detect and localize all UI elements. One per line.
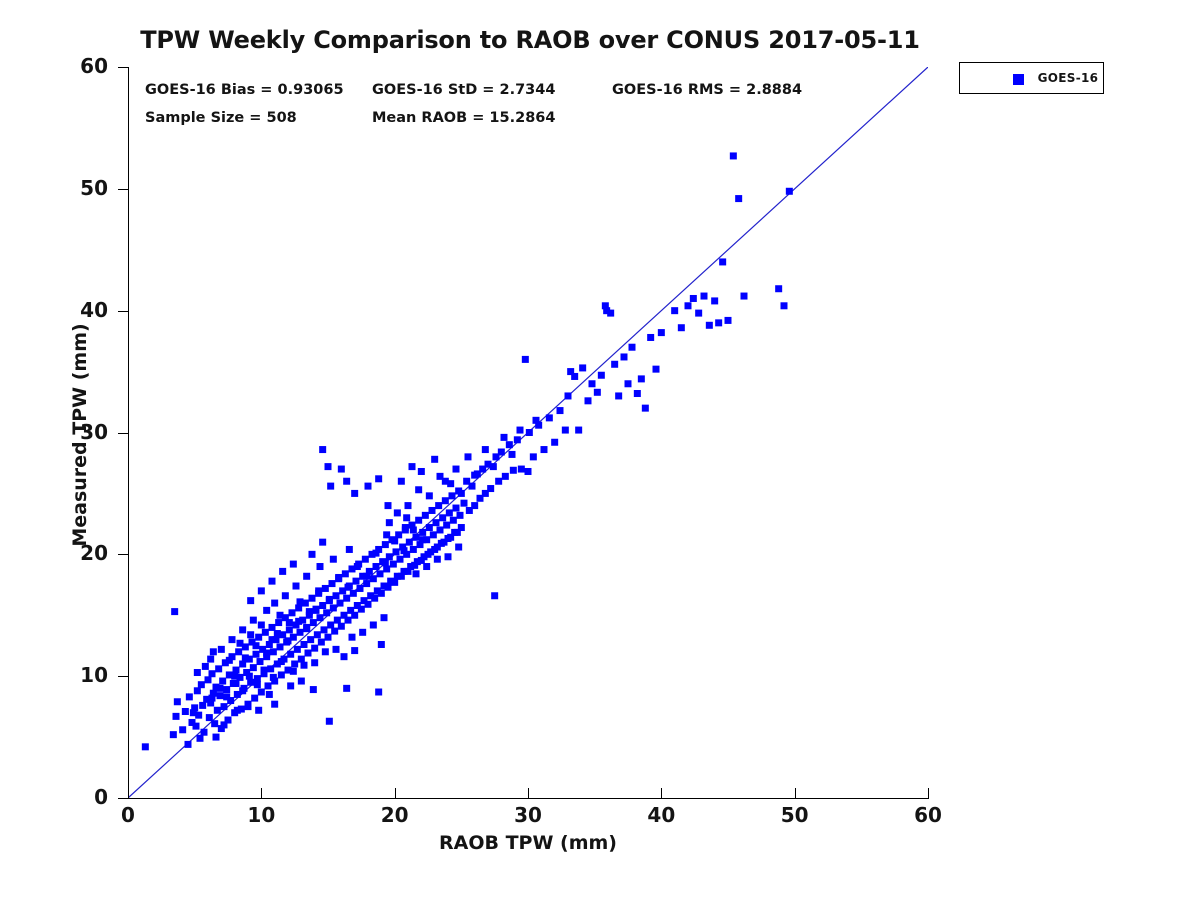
data-point xyxy=(291,660,298,667)
y-axis-spine xyxy=(128,67,129,799)
data-point xyxy=(329,580,336,587)
data-point xyxy=(437,526,444,533)
data-point xyxy=(502,473,509,480)
data-point xyxy=(310,686,317,693)
data-point xyxy=(247,679,254,686)
data-point xyxy=(482,446,489,453)
data-point xyxy=(398,478,405,485)
x-tick-mark xyxy=(261,788,262,798)
x-axis-spine xyxy=(128,798,929,799)
data-point xyxy=(325,634,332,641)
data-point xyxy=(239,626,246,633)
data-point xyxy=(594,389,601,396)
data-point xyxy=(343,685,350,692)
data-point xyxy=(343,595,350,602)
data-point xyxy=(638,375,645,382)
data-point xyxy=(419,536,426,543)
data-point xyxy=(525,468,532,475)
data-point xyxy=(471,502,478,509)
data-point xyxy=(319,602,326,609)
data-point xyxy=(381,614,388,621)
x-tick-label: 0 xyxy=(93,803,163,827)
y-tick-mark xyxy=(118,433,128,434)
data-point xyxy=(326,596,333,603)
data-point xyxy=(319,539,326,546)
data-point xyxy=(498,448,505,455)
data-point xyxy=(522,356,529,363)
data-point xyxy=(261,667,268,674)
data-point xyxy=(254,681,261,688)
data-point xyxy=(335,574,342,581)
data-point xyxy=(337,600,344,607)
data-point xyxy=(199,702,206,709)
data-point xyxy=(173,713,180,720)
data-point xyxy=(323,609,330,616)
data-point xyxy=(350,590,357,597)
data-point xyxy=(391,537,398,544)
data-point xyxy=(287,651,294,658)
data-point xyxy=(221,703,228,710)
data-point xyxy=(295,618,302,625)
page-title: TPW Weekly Comparison to RAOB over CONUS… xyxy=(0,26,1060,54)
data-point xyxy=(429,507,436,514)
data-point xyxy=(303,573,310,580)
data-point xyxy=(378,641,385,648)
x-tick-mark xyxy=(928,788,929,798)
data-point xyxy=(294,646,301,653)
data-point xyxy=(706,322,713,329)
data-point xyxy=(405,502,412,509)
data-point xyxy=(231,673,238,680)
data-point xyxy=(277,612,284,619)
x-tick-mark xyxy=(395,788,396,798)
data-point xyxy=(402,524,409,531)
data-point xyxy=(239,687,246,694)
data-point xyxy=(309,551,316,558)
data-point xyxy=(279,568,286,575)
data-point xyxy=(370,621,377,628)
data-point xyxy=(282,592,289,599)
x-tick-label: 60 xyxy=(893,803,963,827)
data-point xyxy=(246,673,253,680)
data-point xyxy=(266,691,273,698)
data-point xyxy=(342,570,349,577)
data-point xyxy=(326,718,333,725)
data-point xyxy=(701,293,708,300)
data-point xyxy=(362,556,369,563)
data-point xyxy=(469,483,476,490)
data-point xyxy=(345,617,352,624)
data-point xyxy=(314,631,321,638)
data-point xyxy=(239,660,246,667)
data-point xyxy=(490,463,497,470)
data-point xyxy=(377,570,384,577)
y-tick-mark xyxy=(118,67,128,68)
data-point xyxy=(589,380,596,387)
data-point xyxy=(269,624,276,631)
x-tick-label: 40 xyxy=(626,803,696,827)
data-point xyxy=(351,490,358,497)
data-point xyxy=(413,570,420,577)
data-point xyxy=(725,317,732,324)
data-point xyxy=(346,546,353,553)
data-point xyxy=(311,645,318,652)
data-point xyxy=(357,585,364,592)
data-points xyxy=(142,152,793,750)
data-point xyxy=(255,707,262,714)
data-point xyxy=(533,417,540,424)
data-point xyxy=(214,707,221,714)
data-point xyxy=(491,592,498,599)
data-point xyxy=(351,612,358,619)
data-point xyxy=(442,497,449,504)
data-point xyxy=(193,723,200,730)
data-point xyxy=(305,650,312,657)
data-point xyxy=(383,565,390,572)
data-point xyxy=(358,606,365,613)
chart-figure: TPW Weekly Comparison to RAOB over CONUS… xyxy=(0,0,1200,900)
data-point xyxy=(351,647,358,654)
data-point xyxy=(277,643,284,650)
data-point xyxy=(371,595,378,602)
data-point xyxy=(275,619,282,626)
data-point xyxy=(250,617,257,624)
data-point xyxy=(786,188,793,195)
data-point xyxy=(450,517,457,524)
data-point xyxy=(430,531,437,538)
data-point xyxy=(678,324,685,331)
data-point xyxy=(345,584,352,591)
data-point xyxy=(373,563,380,570)
data-point xyxy=(439,514,446,521)
data-point xyxy=(611,361,618,368)
data-point xyxy=(333,592,340,599)
data-point xyxy=(730,152,737,159)
data-point xyxy=(333,646,340,653)
data-point xyxy=(575,427,582,434)
data-point xyxy=(385,584,392,591)
data-point xyxy=(349,634,356,641)
data-point xyxy=(327,483,334,490)
data-point xyxy=(690,295,697,302)
data-point xyxy=(301,641,308,648)
data-point xyxy=(223,686,230,693)
data-point xyxy=(565,392,572,399)
y-tick-mark xyxy=(118,676,128,677)
data-point xyxy=(401,547,408,554)
data-point xyxy=(530,453,537,460)
data-point xyxy=(297,629,304,636)
data-point xyxy=(179,726,186,733)
x-tick-mark xyxy=(661,788,662,798)
data-point xyxy=(217,692,224,699)
y-tick-mark xyxy=(118,311,128,312)
data-point xyxy=(370,575,377,582)
data-point xyxy=(501,434,508,441)
data-point xyxy=(265,682,272,689)
data-point xyxy=(434,556,441,563)
data-point xyxy=(223,693,230,700)
y-tick-mark xyxy=(118,554,128,555)
data-point xyxy=(375,689,382,696)
data-point xyxy=(290,561,297,568)
data-point xyxy=(445,553,452,560)
data-point xyxy=(418,468,425,475)
data-point xyxy=(393,548,400,555)
data-point xyxy=(598,372,605,379)
data-point xyxy=(453,505,460,512)
data-point xyxy=(465,453,472,460)
data-point xyxy=(394,509,401,516)
data-point xyxy=(557,407,564,414)
data-point xyxy=(363,580,370,587)
data-point xyxy=(658,329,665,336)
data-point xyxy=(458,490,465,497)
data-point xyxy=(263,607,270,614)
data-point xyxy=(426,524,433,531)
data-point xyxy=(258,587,265,594)
data-point xyxy=(514,436,521,443)
data-point xyxy=(322,648,329,655)
data-point xyxy=(435,502,442,509)
data-point xyxy=(458,524,465,531)
data-point xyxy=(395,531,402,538)
data-point xyxy=(271,701,278,708)
data-point xyxy=(287,682,294,689)
data-point xyxy=(406,539,413,546)
data-point xyxy=(269,578,276,585)
data-point xyxy=(174,698,181,705)
data-point xyxy=(267,665,274,672)
x-tick-mark xyxy=(528,788,529,798)
data-point xyxy=(359,629,366,636)
data-point xyxy=(171,608,178,615)
data-point xyxy=(330,556,337,563)
data-point xyxy=(386,553,393,560)
data-point xyxy=(194,669,201,676)
data-point xyxy=(331,628,338,635)
data-point xyxy=(621,353,628,360)
data-point xyxy=(286,626,293,633)
legend-label-goes-16: GOES-16 xyxy=(1036,71,1100,85)
data-point xyxy=(571,373,578,380)
y-tick-mark xyxy=(118,189,128,190)
data-point xyxy=(410,526,417,533)
data-point xyxy=(218,646,225,653)
x-axis-label: RAOB TPW (mm) xyxy=(128,832,928,854)
data-point xyxy=(318,639,325,646)
data-point xyxy=(375,475,382,482)
data-point xyxy=(579,364,586,371)
data-point xyxy=(207,656,214,663)
data-point xyxy=(409,463,416,470)
data-point xyxy=(625,380,632,387)
data-point xyxy=(449,492,456,499)
data-point xyxy=(615,392,622,399)
data-point xyxy=(509,451,516,458)
data-point xyxy=(735,195,742,202)
data-point xyxy=(487,485,494,492)
data-point xyxy=(546,414,553,421)
data-point xyxy=(385,502,392,509)
data-point xyxy=(270,674,277,681)
data-point xyxy=(629,344,636,351)
data-point xyxy=(202,663,209,670)
data-point xyxy=(221,721,228,728)
data-point xyxy=(642,405,649,412)
data-point xyxy=(685,302,692,309)
data-point xyxy=(365,483,372,490)
data-point xyxy=(310,619,317,626)
data-point xyxy=(233,680,240,687)
y-axis-label: Measured TPW (mm) xyxy=(69,115,91,755)
data-point xyxy=(341,653,348,660)
legend-swatch-goes-16 xyxy=(1013,74,1024,85)
data-point xyxy=(495,478,502,485)
data-point xyxy=(431,456,438,463)
data-point xyxy=(293,583,300,590)
x-tick-label: 30 xyxy=(493,803,563,827)
data-point xyxy=(541,446,548,453)
data-point xyxy=(322,585,329,592)
data-point xyxy=(233,667,240,674)
data-point xyxy=(274,630,281,637)
data-point xyxy=(278,658,285,665)
data-point xyxy=(325,463,332,470)
legend[interactable]: GOES-16 xyxy=(959,62,1104,94)
data-point xyxy=(426,492,433,499)
data-point xyxy=(338,623,345,630)
data-point xyxy=(634,390,641,397)
data-point xyxy=(415,486,422,493)
data-point xyxy=(446,509,453,516)
data-point xyxy=(298,656,305,663)
data-point xyxy=(457,512,464,519)
x-tick-label: 50 xyxy=(760,803,830,827)
data-point xyxy=(711,297,718,304)
data-point xyxy=(422,512,429,519)
data-point xyxy=(334,617,341,624)
data-point xyxy=(607,310,614,317)
data-point xyxy=(237,640,244,647)
data-point xyxy=(298,678,305,685)
data-point xyxy=(313,606,320,613)
data-point xyxy=(343,478,350,485)
x-tick-mark xyxy=(795,788,796,798)
data-point xyxy=(247,631,254,638)
data-point xyxy=(262,629,269,636)
data-point xyxy=(383,531,390,538)
y-tick-mark xyxy=(118,798,128,799)
data-point xyxy=(338,466,345,473)
data-point xyxy=(253,651,260,658)
data-point xyxy=(415,517,422,524)
data-point xyxy=(201,729,208,736)
data-point xyxy=(353,578,360,585)
data-point xyxy=(327,621,334,628)
data-point xyxy=(255,634,262,641)
data-point xyxy=(585,397,592,404)
data-point xyxy=(251,695,258,702)
data-point xyxy=(330,604,337,611)
data-point xyxy=(303,625,310,632)
data-point xyxy=(373,550,380,557)
data-point xyxy=(317,563,324,570)
data-point xyxy=(442,478,449,485)
data-point xyxy=(271,600,278,607)
data-point xyxy=(289,609,296,616)
data-point xyxy=(242,654,249,661)
data-point xyxy=(247,597,254,604)
data-point xyxy=(306,608,313,615)
data-point xyxy=(354,563,361,570)
y-tick-label: 60 xyxy=(48,54,108,78)
data-point xyxy=(311,659,318,666)
data-point xyxy=(386,519,393,526)
data-point xyxy=(301,662,308,669)
data-point xyxy=(257,658,264,665)
data-point xyxy=(198,681,205,688)
data-point xyxy=(562,427,569,434)
data-point xyxy=(245,703,252,710)
data-point xyxy=(551,439,558,446)
data-point xyxy=(258,621,265,628)
data-point xyxy=(235,648,242,655)
data-point xyxy=(455,544,462,551)
data-point xyxy=(290,668,297,675)
data-point xyxy=(285,637,292,644)
data-point xyxy=(211,720,218,727)
data-point xyxy=(226,657,233,664)
data-point xyxy=(185,741,192,748)
data-point xyxy=(278,671,285,678)
data-point xyxy=(443,522,450,529)
data-point xyxy=(229,636,236,643)
data-point xyxy=(461,500,468,507)
data-point xyxy=(390,561,397,568)
data-point xyxy=(307,636,314,643)
data-point xyxy=(269,636,276,643)
data-point xyxy=(286,619,293,626)
data-point xyxy=(413,534,420,541)
data-point xyxy=(297,598,304,605)
data-point xyxy=(190,709,197,716)
data-point xyxy=(719,258,726,265)
data-point xyxy=(186,693,193,700)
data-point xyxy=(671,307,678,314)
data-point xyxy=(517,427,524,434)
data-point xyxy=(197,735,204,742)
data-point xyxy=(378,590,385,597)
data-point xyxy=(382,541,389,548)
data-point xyxy=(258,689,265,696)
data-point xyxy=(647,334,654,341)
data-point xyxy=(321,626,328,633)
data-point xyxy=(423,563,430,570)
data-point xyxy=(210,648,217,655)
data-point xyxy=(453,466,460,473)
x-tick-mark xyxy=(128,788,129,798)
data-point xyxy=(170,731,177,738)
data-point xyxy=(270,648,277,655)
data-point xyxy=(775,285,782,292)
x-tick-label: 10 xyxy=(226,803,296,827)
data-point xyxy=(410,546,417,553)
plot-area xyxy=(128,67,928,798)
data-point xyxy=(781,302,788,309)
data-point xyxy=(205,676,212,683)
data-point xyxy=(382,559,389,566)
